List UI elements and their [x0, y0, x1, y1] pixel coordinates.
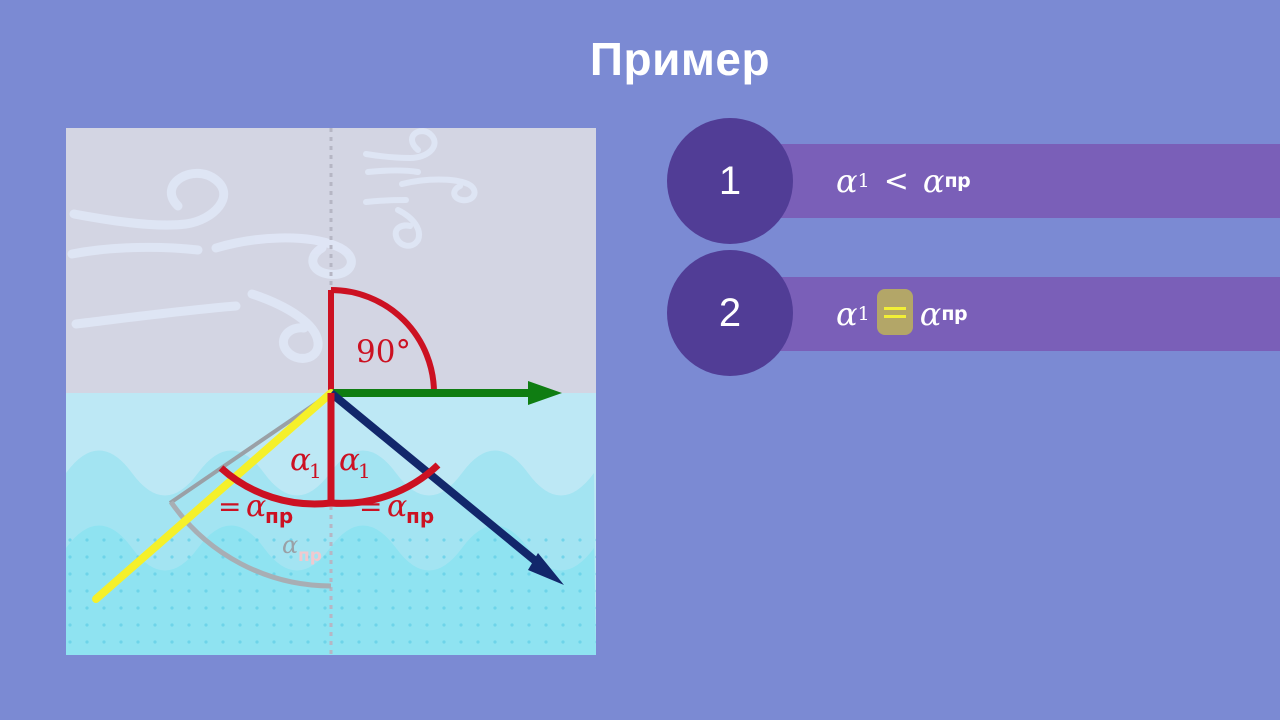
label-eq-left-op: = — [218, 490, 241, 523]
label-eq-left-alpha: α — [246, 489, 266, 524]
alpha-symbol: α — [836, 162, 858, 200]
diagram-container: α пр 90° — [66, 128, 596, 655]
alpha-subscript: 1 — [858, 303, 870, 325]
label-alpha1-left: α — [290, 442, 311, 478]
alpha-symbol: α — [836, 295, 858, 333]
comparison-operator: < — [870, 164, 923, 199]
label-eq-right-alpha: α — [387, 489, 407, 524]
alpha-subscript: 1 — [858, 170, 870, 192]
condition-badge-2[interactable]: 2 — [667, 250, 793, 376]
equals-highlight-badge[interactable] — [877, 289, 913, 335]
slide-root: Пример — [0, 0, 1280, 720]
alpha-critical-subscript: пр — [941, 303, 967, 325]
page-title: Пример — [400, 36, 960, 82]
condition-bar-2 — [730, 277, 1280, 351]
optics-diagram: α пр 90° — [66, 128, 596, 655]
label-alpha1-right-sub: 1 — [358, 459, 371, 483]
condition-badge-1-number: 1 — [719, 161, 741, 201]
condition-badge-2-number: 2 — [719, 293, 741, 333]
label-alpha1-right: α — [339, 442, 360, 478]
label-eq-right-sub: пр — [406, 504, 434, 528]
label-alpha1-left-sub: 1 — [309, 459, 322, 483]
alpha-critical-subscript: пр — [944, 170, 970, 192]
label-alpha-critical-gray: α — [282, 531, 298, 559]
condition-expression-1: α1 < αпр — [836, 144, 970, 218]
condition-badge-1[interactable]: 1 — [667, 118, 793, 244]
label-eq-right-op: = — [359, 490, 382, 523]
condition-expression-2: α1 αпр — [836, 277, 967, 351]
condition-bar-1 — [730, 144, 1280, 218]
label-alpha-critical-gray-sub: пр — [298, 546, 322, 566]
equals-icon — [884, 306, 906, 319]
alpha-critical-symbol: α — [923, 162, 945, 200]
alpha-critical-symbol: α — [920, 295, 942, 333]
label-eq-left-sub: пр — [265, 504, 293, 528]
label-90-degrees: 90° — [356, 334, 411, 370]
